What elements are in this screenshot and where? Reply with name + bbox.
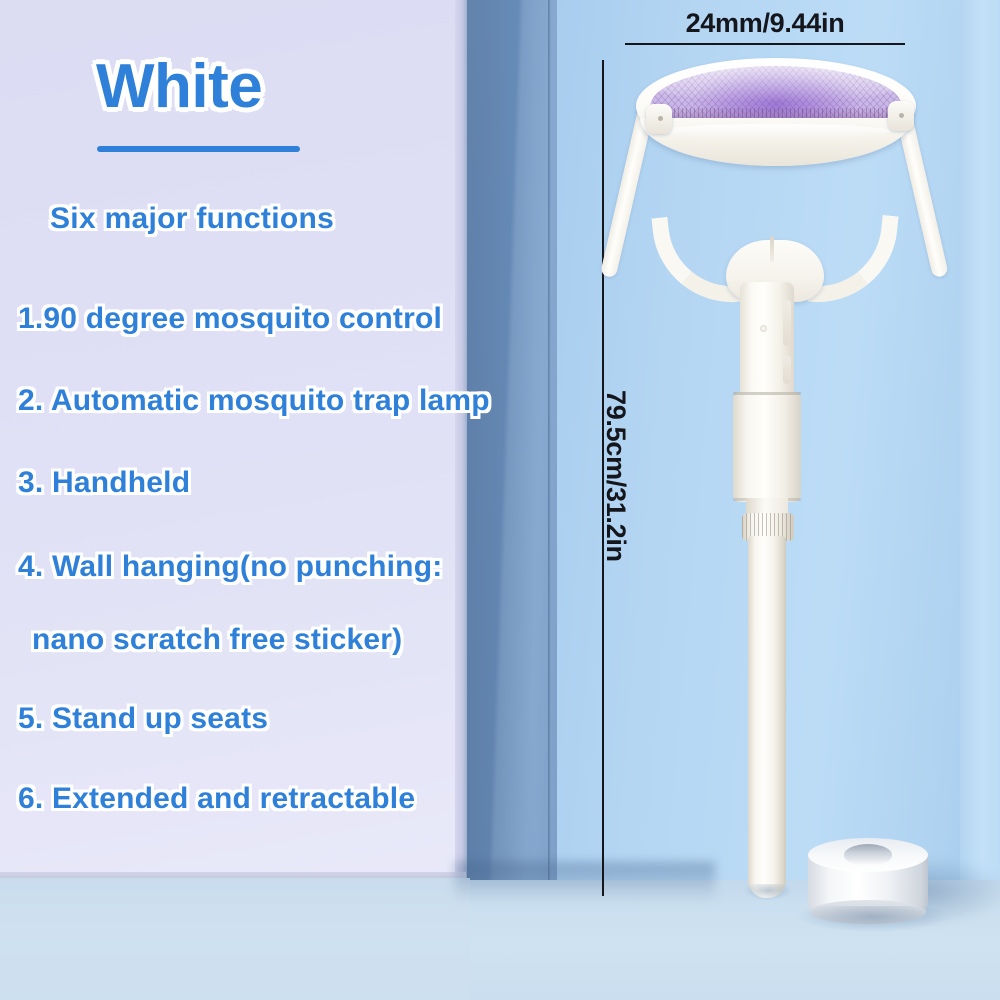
racket-lip-highlight: [660, 124, 890, 138]
uv-mesh-sheen: [655, 66, 898, 102]
racket-arm-curve-right: [807, 208, 898, 310]
power-indicator-dot-icon: [760, 325, 767, 332]
extension-pole-shadow: [744, 884, 792, 900]
handle-collar-seam-top: [733, 392, 801, 395]
product-mosquito-racket: [0, 0, 1000, 1000]
base-ground-shadow: [798, 906, 948, 932]
racket-yoke-notch: [770, 236, 774, 262]
racket-hinge-pin-right: [899, 113, 904, 118]
handle-collar: [733, 392, 801, 502]
extension-pole: [748, 536, 786, 898]
base-stand-socket: [844, 844, 892, 866]
racket-hinge-pin-left: [658, 116, 663, 121]
handle-button-strip-lower: [783, 356, 791, 384]
product-image-stage: White Six major functions 1.90 degree mo…: [0, 0, 1000, 1000]
handle-button-strip: [783, 300, 791, 346]
racket-arm-curve-left: [651, 210, 742, 310]
